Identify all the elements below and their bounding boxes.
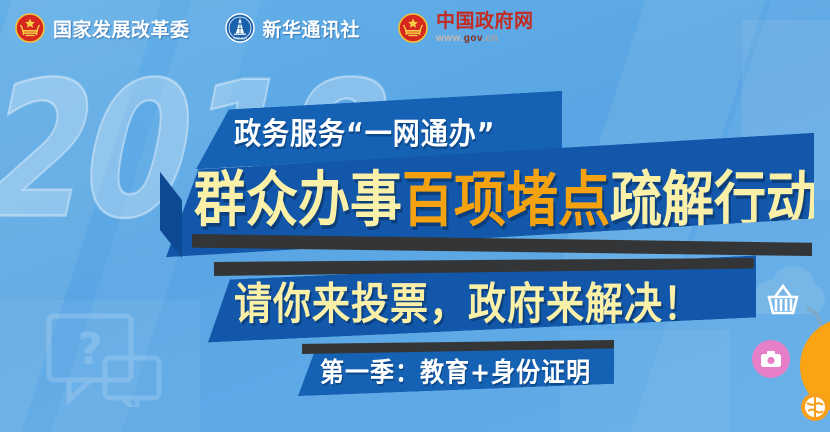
headline-part-highlight: 百项堵点 [402, 166, 610, 236]
diagonal-stripe [0, 0, 174, 432]
logo-ndrc-label: 国家发展改革委 [53, 15, 190, 42]
headline-part-a: 群众办事 [194, 166, 402, 236]
globe-icon [800, 392, 830, 422]
season-text: 第一季：教育+身份证明 [320, 349, 591, 388]
china-national-emblem-icon [398, 13, 428, 43]
orange-circle-decoration [800, 318, 830, 414]
url-www: www. [436, 33, 464, 44]
logo-ndrc[interactable]: 国家发展改革委 [15, 13, 190, 43]
logo-gov-cn-label: 中国政府网 [436, 12, 534, 31]
logo-xinhua-label: 新华通讯社 [263, 15, 361, 42]
logo-header: 国家发展改革委 XINHUA 新华通讯社 [0, 0, 830, 56]
logo-gov-cn-url: www.gov.cn [436, 34, 534, 44]
headline-callout-text: 请你来投票，政府来解决！ [234, 268, 702, 331]
logo-xinhua[interactable]: XINHUA 新华通讯社 [225, 13, 361, 43]
url-gov: gov [464, 33, 483, 44]
xinhua-agency-icon: XINHUA [225, 13, 255, 43]
svg-text:?: ? [77, 324, 103, 375]
promo-banner: 2018 ? [0, 0, 830, 432]
logo-gov-cn[interactable]: 中国政府网 www.gov.cn [398, 12, 534, 44]
banner-side-face [160, 172, 182, 258]
headline-part-b: 疏解行动 [610, 166, 818, 236]
background-block [0, 300, 200, 432]
question-speech-bubble-icon: ? [45, 312, 165, 412]
china-national-emblem-icon [15, 13, 45, 43]
url-cn: .cn [482, 33, 498, 44]
camera-icon [752, 340, 790, 378]
headline-subtitle-text: 政务服务“一网通办” [234, 109, 496, 153]
banner-shadow [192, 234, 812, 256]
svg-text:XINHUA: XINHUA [233, 36, 248, 40]
